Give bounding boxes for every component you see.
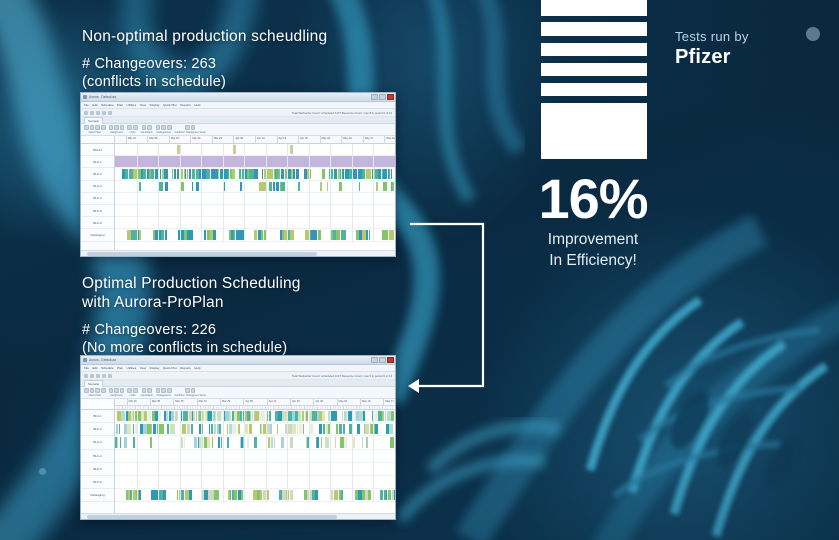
white-bar-chart (541, 0, 647, 160)
gantt-conflict-marker[interactable] (233, 145, 236, 154)
gantt-gridline (180, 410, 181, 502)
gantt-row-label: BLK-6 (81, 217, 114, 229)
chart-bar (541, 43, 647, 56)
ribbon-icons-gantt[interactable] (84, 388, 106, 393)
gantt-task-bar[interactable] (139, 182, 141, 191)
ribbon-icon[interactable] (133, 388, 138, 393)
gantt-task-bar[interactable] (353, 437, 355, 447)
gantt-task-bar[interactable] (298, 182, 300, 191)
menu-item-view[interactable]: View (140, 366, 146, 370)
gantt-row[interactable] (115, 229, 395, 241)
bottom-heading-line2: with Aurora-ProPlan (82, 293, 412, 312)
gantt-task-bar[interactable] (269, 411, 272, 421)
gantt-row[interactable] (115, 450, 395, 463)
ribbon-group-conflicts[interactable]: Conflicts / Changeover Setup (175, 388, 206, 397)
ribbon-icon[interactable] (133, 125, 138, 130)
gantt-task-bar[interactable] (166, 169, 168, 178)
ribbon-label-assignment: Assignment (110, 131, 123, 134)
ribbon-icon[interactable] (95, 388, 100, 393)
gantt-task-bar[interactable] (378, 411, 382, 421)
window-title-text: Aurora - Default.aa (89, 358, 393, 362)
chart-bar (541, 63, 647, 76)
gantt-task-bar[interactable] (322, 169, 325, 178)
gantt-gridline (352, 144, 353, 242)
gantt-task-bar[interactable] (335, 411, 337, 421)
ribbon-group-assignment[interactable]: Assignment (109, 125, 125, 134)
ribbon-label-conflicts: Conflicts / Changeover Setup (175, 394, 206, 397)
ribbon-icon[interactable] (147, 125, 152, 130)
gantt-task-bar[interactable] (344, 437, 347, 447)
bottom-heading-line1: Optimal Production Scheduling (82, 274, 412, 293)
gantt-time-label: Mar 29 (214, 137, 222, 140)
gantt-task-bar[interactable] (375, 424, 378, 434)
toolbar-icon-undo[interactable] (108, 374, 112, 378)
ribbon-icon[interactable] (109, 125, 114, 130)
menu-item-edit[interactable]: Edit (92, 366, 97, 370)
gantt-task-bar[interactable] (391, 411, 394, 421)
gantt-row[interactable] (115, 476, 395, 489)
ribbon-icons-gantt[interactable] (84, 125, 106, 130)
gantt-task-bar[interactable] (207, 437, 210, 447)
gantt-task-bar[interactable] (367, 437, 368, 447)
gantt-gridline (373, 144, 374, 242)
menu-item-utilities[interactable]: Utilities (127, 366, 137, 370)
ribbon-icon[interactable] (191, 125, 196, 130)
gantt-task-bar[interactable] (320, 182, 321, 191)
gantt-task-bar[interactable] (325, 437, 329, 447)
ribbon-icon[interactable] (90, 125, 95, 130)
improvement-stat-block: 16% Improvement In Efficiency! (493, 170, 693, 270)
toolbar-primary[interactable]: Total Workorder Count: scheduled 1247 Re… (81, 372, 395, 380)
gantt-subheader (115, 405, 395, 409)
gantt-task-bar[interactable] (213, 230, 216, 239)
ribbon-icons-changeovers[interactable] (156, 388, 172, 393)
gantt-task-bar[interactable] (290, 490, 293, 500)
gantt-row[interactable] (115, 217, 395, 229)
gantt-task-bar[interactable] (241, 490, 243, 500)
gantt-row[interactable] (115, 436, 395, 449)
menu-item-view[interactable]: View (140, 103, 146, 107)
toolbar-icon-undo[interactable] (108, 111, 112, 115)
gantt-rows[interactable] (115, 410, 395, 502)
ribbon-icons-undo[interactable] (127, 388, 137, 393)
scrollbar-thumb[interactable] (87, 515, 337, 519)
ribbon-icons-constraints[interactable] (142, 125, 152, 130)
ribbon-toolbar[interactable]: Gantt Chart Assignment Undo Constraints … (81, 387, 395, 399)
status-counts: Total Workorder Count: scheduled 1247 Re… (292, 374, 392, 378)
ribbon-label-changeovers: Changeovers (157, 394, 171, 397)
gantt-task-bar[interactable] (391, 169, 392, 178)
gantt-time-label: Apr 05 (235, 137, 243, 140)
toolbar-primary[interactable]: Total Workorder Count: scheduled 1247 Re… (81, 109, 395, 117)
gantt-timeline-area[interactable]: Mar 01Mar 08Mar 15Mar 22Mar 29Apr 05Apr … (115, 399, 395, 513)
ribbon-label-constraints: Constraints (141, 394, 153, 397)
gantt-task-bar[interactable] (310, 424, 313, 434)
ribbon-icon[interactable] (185, 388, 190, 393)
minimize-icon[interactable] (371, 357, 378, 363)
menu-item-plan[interactable]: Plan (117, 366, 123, 370)
gantt-task-bar[interactable] (358, 169, 362, 178)
ribbon-icon[interactable] (156, 388, 161, 393)
app-icon (83, 95, 87, 99)
horizontal-scrollbar[interactable] (81, 513, 395, 519)
ribbon-group-constraints[interactable]: Constraints (141, 388, 153, 397)
ribbon-group-changeovers[interactable]: Changeovers (156, 125, 172, 134)
app-icon (83, 358, 87, 362)
gantt-task-bar[interactable] (221, 437, 222, 447)
gantt-row[interactable] (115, 168, 395, 180)
gantt-task-bar[interactable] (216, 490, 219, 500)
gantt-time-tick (212, 136, 213, 143)
menu-item-display[interactable]: Display (150, 103, 160, 107)
gantt-task-bar[interactable] (369, 230, 371, 239)
gantt-task-bar[interactable] (139, 230, 141, 239)
tab-scenario[interactable]: Scenario (84, 117, 103, 124)
window-title-bar: Aurora - Default.aa (81, 356, 395, 365)
toolbar-icon-print[interactable] (102, 374, 106, 378)
menu-item-schedule[interactable]: Schedule (101, 103, 114, 107)
gantt-task-bar[interactable] (189, 490, 192, 500)
gantt-chart-non-optimal[interactable]: RM-01BLK-1BLK-2BLK-3BLK-4BLK-5BLK-6Packa… (81, 136, 395, 250)
gantt-task-bar[interactable] (321, 437, 322, 447)
gantt-gridline (266, 410, 267, 502)
gantt-task-bar[interactable] (173, 424, 175, 434)
ribbon-icon[interactable] (84, 388, 89, 393)
ribbon-icon[interactable] (167, 125, 172, 130)
gantt-time-tick (298, 136, 299, 143)
gantt-conflict-marker[interactable] (290, 145, 293, 154)
tab-scenario[interactable]: Scenario (84, 380, 103, 387)
gantt-timeline-area[interactable]: Mar 01Mar 08Mar 15Mar 22Mar 29Apr 05Apr … (115, 136, 395, 250)
screenshot-window-non-optimal[interactable]: Aurora - Default.aa File Edit Schedule P… (80, 92, 396, 257)
gantt-row-label: BLK-5 (81, 205, 114, 217)
toolbar-icon-open[interactable] (90, 374, 94, 378)
gantt-time-header: Mar 01Mar 08Mar 15Mar 22Mar 29Apr 05Apr … (115, 136, 395, 144)
gantt-task-bar[interactable] (232, 424, 235, 434)
gantt-task-bar[interactable] (341, 490, 343, 500)
ribbon-icons-conflicts[interactable] (185, 125, 195, 130)
ribbon-group-undo[interactable]: Undo (127, 125, 137, 134)
gantt-task-bar[interactable] (290, 437, 292, 447)
gantt-row-label-column: BLK-1BLK-2BLK-3BLK-4BLK-5BLK-6Packaging (81, 399, 115, 513)
gantt-task-bar[interactable] (296, 169, 299, 178)
gantt-task-bar[interactable] (212, 437, 213, 447)
menu-item-file[interactable]: File (84, 103, 89, 107)
gantt-task-bar[interactable] (368, 490, 371, 500)
gantt-task-bar[interactable] (339, 182, 342, 191)
ribbon-label-changeovers: Changeovers (157, 131, 171, 134)
ribbon-icon[interactable] (142, 388, 147, 393)
ribbon-icon[interactable] (95, 125, 100, 130)
ribbon-group-undo[interactable]: Undo (127, 388, 137, 397)
toolbar-icon-save[interactable] (96, 374, 100, 378)
ribbon-icons-constraints[interactable] (142, 388, 152, 393)
gantt-task-bar[interactable] (191, 424, 194, 434)
gantt-row-label: BLK-4 (81, 450, 114, 463)
gantt-task-bar[interactable] (121, 411, 125, 421)
ribbon-icon[interactable] (101, 125, 106, 130)
gantt-task-bar[interactable] (227, 437, 229, 447)
bottom-changeovers: # Changeovers: 226 (82, 321, 412, 339)
ribbon-icons-assignment[interactable] (109, 388, 125, 393)
menu-item-reports[interactable]: Reports (180, 366, 191, 370)
gantt-task-bar[interactable] (274, 437, 275, 447)
menu-item-reports[interactable]: Reports (180, 103, 191, 107)
gantt-task-bar[interactable] (247, 437, 249, 447)
gantt-task-bar[interactable] (119, 424, 120, 434)
company-name: Pfizer (675, 45, 749, 69)
ribbon-label-gantt: Gantt Chart (89, 131, 101, 134)
gantt-time-tick (363, 136, 364, 143)
gantt-gridline (287, 144, 288, 242)
gantt-task-bar[interactable] (390, 437, 394, 447)
gantt-gridline (137, 410, 138, 502)
gantt-task-bar[interactable] (392, 182, 394, 191)
gantt-task-bar[interactable] (394, 490, 395, 500)
menu-item-quickplot[interactable]: Quick Plot (163, 366, 177, 370)
ribbon-group-gantt[interactable]: Gantt Chart (84, 388, 106, 397)
menu-item-plan[interactable]: Plan (117, 103, 123, 107)
window-controls[interactable] (371, 357, 394, 363)
gantt-task-bar[interactable] (240, 182, 242, 191)
gantt-time-label: Apr 05 (245, 400, 253, 403)
gantt-time-label: Mar 29 (222, 400, 230, 403)
gantt-time-tick (341, 136, 342, 143)
gantt-task-bar[interactable] (281, 182, 284, 191)
gantt-task-bar[interactable] (232, 169, 235, 178)
gantt-task-bar[interactable] (211, 169, 215, 178)
gantt-task-bar[interactable] (303, 424, 304, 434)
gantt-task-bar[interactable] (133, 437, 136, 447)
gantt-time-label: May 03 (339, 400, 348, 403)
gantt-task-bar[interactable] (357, 424, 359, 434)
gantt-task-bar[interactable] (160, 424, 164, 434)
gantt-rows[interactable] (115, 144, 395, 242)
menu-item-help[interactable]: Help (194, 366, 200, 370)
gantt-task-bar[interactable] (175, 411, 178, 421)
ribbon-icon[interactable] (101, 388, 106, 393)
menu-item-file[interactable]: File (84, 366, 89, 370)
gantt-time-label: Mar 01 (128, 137, 136, 140)
gantt-task-bar[interactable] (359, 182, 360, 191)
ribbon-icon[interactable] (90, 388, 95, 393)
gantt-gridline (352, 410, 353, 502)
gantt-task-bar[interactable] (267, 490, 269, 500)
horizontal-scrollbar[interactable] (81, 250, 395, 256)
gantt-time-label: Apr 12 (257, 137, 265, 140)
ribbon-icon[interactable] (147, 388, 152, 393)
gantt-task-bar[interactable] (165, 230, 167, 239)
close-icon[interactable] (387, 94, 394, 100)
ribbon-group-assignment[interactable]: Assignment (109, 388, 125, 397)
ribbon-icon[interactable] (114, 388, 119, 393)
gantt-task-bar[interactable] (238, 424, 240, 434)
scrollbar-thumb[interactable] (87, 252, 317, 256)
gantt-task-bar[interactable] (387, 411, 391, 421)
gantt-label-header-pad (81, 399, 114, 410)
menu-bar[interactable]: File Edit Schedule Plan Utilities View D… (81, 365, 395, 372)
gantt-task-bar[interactable] (343, 424, 345, 434)
gantt-task-bar[interactable] (270, 424, 272, 434)
gantt-task-bar[interactable] (386, 182, 387, 191)
gantt-task-bar[interactable] (184, 437, 185, 447)
maximize-icon[interactable] (379, 94, 386, 100)
gantt-task-bar[interactable] (365, 424, 369, 434)
ribbon-icons-conflicts[interactable] (185, 388, 195, 393)
gantt-task-bar[interactable] (181, 182, 184, 191)
menu-item-display[interactable]: Display (150, 366, 160, 370)
gantt-row[interactable] (115, 410, 395, 423)
chart-bar (541, 22, 647, 36)
gantt-task-bar[interactable] (139, 490, 141, 500)
gantt-row[interactable] (115, 489, 395, 502)
gantt-row[interactable] (115, 144, 395, 156)
menu-item-quickplot[interactable]: Quick Plot (163, 103, 177, 107)
gantt-row[interactable] (115, 181, 395, 193)
gantt-time-tick (277, 136, 278, 143)
gantt-task-bar[interactable] (208, 411, 212, 421)
ribbon-label-undo: Undo (130, 131, 136, 134)
menu-item-edit[interactable]: Edit (92, 103, 97, 107)
gantt-task-bar[interactable] (249, 169, 253, 178)
gantt-task-bar[interactable] (277, 424, 278, 434)
ribbon-group-changeovers[interactable]: Changeovers (156, 388, 172, 397)
menu-bar[interactable]: File Edit Schedule Plan Utilities View D… (81, 102, 395, 109)
gantt-task-bar[interactable] (327, 182, 329, 191)
ribbon-icons-undo[interactable] (127, 125, 137, 130)
gantt-task-bar[interactable] (290, 230, 293, 239)
gantt-task-bar[interactable] (165, 182, 168, 191)
ribbon-icon[interactable] (161, 388, 166, 393)
window-title-text: Aurora - Default.aa (89, 95, 393, 99)
gantt-task-bar[interactable] (192, 182, 193, 191)
gantt-task-bar[interactable] (217, 411, 221, 421)
ribbon-icons-assignment[interactable] (109, 125, 125, 130)
ribbon-icon[interactable] (120, 388, 125, 393)
gantt-gridline (373, 410, 374, 502)
gantt-task-bar[interactable] (363, 411, 365, 421)
minimize-icon[interactable] (371, 94, 378, 100)
gantt-task-bar[interactable] (254, 169, 258, 178)
gantt-gridline (180, 144, 181, 242)
ribbon-icon[interactable] (185, 125, 190, 130)
ribbon-icon[interactable] (191, 388, 196, 393)
tab-row[interactable]: Scenario (81, 380, 395, 387)
chart-bar (541, 0, 647, 16)
toolbar-icon-print[interactable] (102, 111, 106, 115)
gantt-time-label: May 03 (322, 137, 331, 140)
ribbon-icon[interactable] (156, 125, 161, 130)
status-counts: Total Workorder Count: scheduled 1247 Re… (292, 111, 392, 115)
gantt-row[interactable] (115, 156, 395, 168)
gantt-task-bar[interactable] (150, 437, 152, 447)
ribbon-icon[interactable] (142, 125, 147, 130)
gantt-task-bar[interactable] (288, 424, 292, 434)
gantt-task-bar[interactable] (219, 424, 221, 434)
gantt-gridline (223, 144, 224, 242)
gantt-task-bar[interactable] (190, 230, 192, 239)
gantt-task-bar[interactable] (366, 169, 370, 178)
ribbon-icon[interactable] (127, 125, 132, 130)
maximize-icon[interactable] (379, 357, 386, 363)
tests-run-by-label: Tests run by (675, 28, 749, 45)
ribbon-icon[interactable] (161, 125, 166, 130)
gantt-task-bar[interactable] (310, 169, 311, 178)
ribbon-group-gantt[interactable]: Gantt Chart (84, 125, 106, 134)
toolbar-icon-open[interactable] (90, 111, 94, 115)
tab-row[interactable]: Scenario (81, 117, 395, 124)
gantt-time-label: May 17 (385, 400, 394, 403)
gantt-task-bar[interactable] (335, 437, 336, 447)
gantt-task-bar[interactable] (389, 424, 393, 434)
gantt-task-bar[interactable] (163, 490, 166, 500)
gantt-task-bar[interactable] (343, 230, 346, 239)
gantt-row[interactable] (115, 193, 395, 205)
gantt-task-bar[interactable] (281, 437, 285, 447)
ribbon-icon[interactable] (109, 388, 114, 393)
gantt-row[interactable] (115, 205, 395, 217)
menu-item-help[interactable]: Help (194, 103, 200, 107)
gantt-task-bar[interactable] (117, 437, 118, 447)
gantt-task-bar[interactable] (315, 490, 318, 500)
menu-item-schedule[interactable]: Schedule (101, 366, 114, 370)
gantt-task-bar[interactable] (322, 411, 325, 421)
ribbon-icon[interactable] (127, 388, 132, 393)
top-changeovers: # Changeovers: 263 (82, 55, 412, 73)
gantt-time-label: May 24 (386, 137, 395, 140)
ribbon-icon[interactable] (84, 125, 89, 130)
gantt-task-bar[interactable] (254, 437, 258, 447)
chart-bar (541, 83, 647, 96)
gantt-task-bar[interactable] (159, 182, 163, 191)
ribbon-icon[interactable] (120, 125, 125, 130)
toolbar-icon-new[interactable] (84, 111, 88, 115)
gantt-task-bar[interactable] (224, 182, 225, 191)
gantt-task-bar[interactable] (376, 182, 378, 191)
gantt-task-bar[interactable] (318, 230, 322, 239)
gantt-task-bar[interactable] (124, 437, 127, 447)
gantt-task-bar[interactable] (120, 437, 121, 447)
gantt-row-label: BLK-2 (81, 168, 114, 180)
toolbar-icon-new[interactable] (84, 374, 88, 378)
gantt-row[interactable] (115, 463, 395, 476)
gantt-time-label: Mar 22 (199, 400, 207, 403)
ribbon-toolbar[interactable]: Gantt Chart Assignment Undo Constraints … (81, 124, 395, 136)
gantt-task-bar[interactable] (196, 182, 199, 191)
gantt-row[interactable] (115, 423, 395, 436)
toolbar-icon-save[interactable] (96, 111, 100, 115)
gantt-row-label: BLK-1 (81, 156, 114, 168)
ribbon-icon[interactable] (114, 125, 119, 130)
screenshot-window-optimal[interactable]: Aurora - Default.aa File Edit Schedule P… (80, 355, 396, 520)
ribbon-icon[interactable] (167, 388, 172, 393)
menu-item-utilities[interactable]: Utilities (127, 103, 137, 107)
bottom-heading: Optimal Production Scheduling with Auror… (82, 274, 412, 312)
gantt-task-bar[interactable] (362, 437, 363, 447)
gantt-task-bar[interactable] (317, 437, 318, 447)
gantt-time-label: Apr 26 (315, 400, 323, 403)
gantt-time-label: May 17 (365, 137, 374, 140)
gantt-time-label: Apr 26 (300, 137, 308, 140)
ribbon-group-conflicts[interactable]: Conflicts / Changeover Setup (175, 125, 206, 134)
window-controls[interactable] (371, 94, 394, 100)
ribbon-icons-changeovers[interactable] (156, 125, 172, 130)
gantt-task-bar[interactable] (127, 424, 130, 434)
close-icon[interactable] (387, 357, 394, 363)
gantt-chart-optimal[interactable]: BLK-1BLK-2BLK-3BLK-4BLK-5BLK-6Packaging … (81, 399, 395, 513)
ribbon-group-constraints[interactable]: Constraints (141, 125, 153, 134)
gantt-task-bar[interactable] (249, 424, 252, 434)
